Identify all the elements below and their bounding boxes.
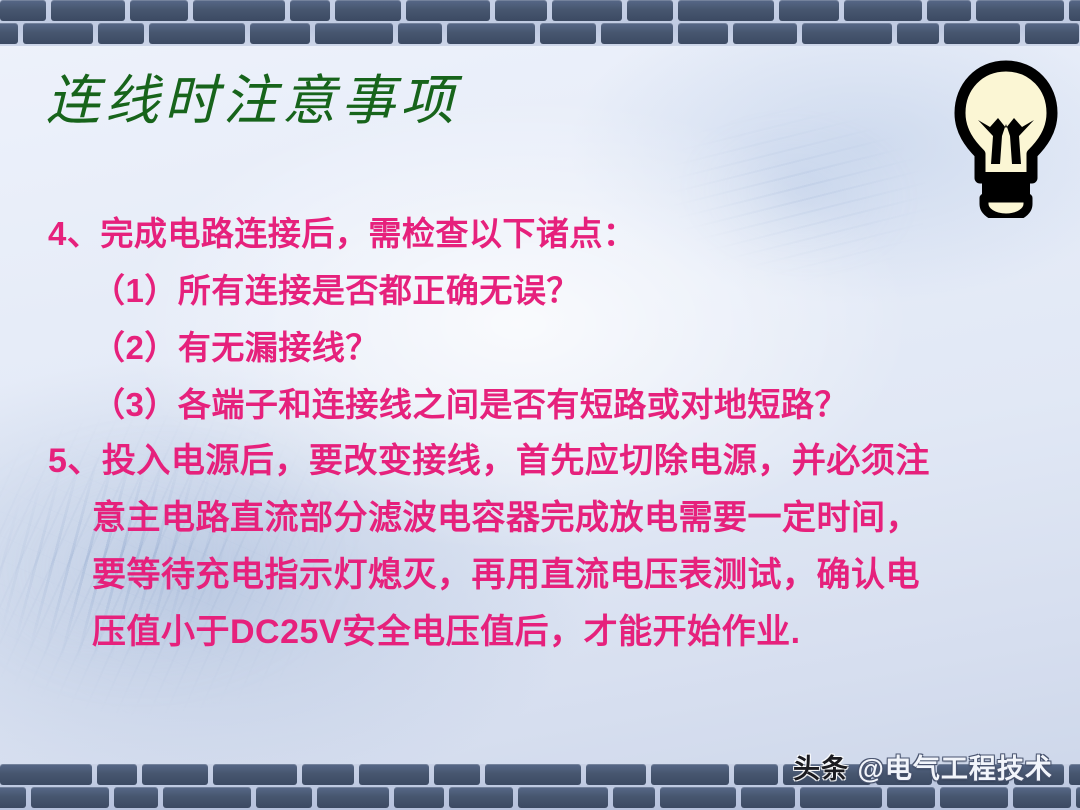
brick — [1069, 764, 1080, 785]
brick — [250, 23, 310, 44]
brick — [0, 23, 18, 44]
brick-row — [0, 23, 1080, 44]
brick — [897, 23, 939, 44]
brick — [940, 787, 1008, 808]
brick — [149, 23, 245, 44]
brick — [302, 764, 354, 785]
brick-row — [0, 0, 1080, 21]
brick — [927, 0, 971, 21]
list-item-5-line-2: 意主电路直流部分滤波电容器完成放电需要一定时间， — [0, 490, 1000, 547]
brick — [485, 764, 581, 785]
brick — [317, 787, 389, 808]
list-item-4-sub-1: （1）所有连接是否都正确无误？ — [0, 262, 1000, 319]
list-item-4-sub-2: （2）有无漏接线？ — [0, 319, 1000, 376]
brick — [1025, 23, 1079, 44]
brick — [193, 0, 285, 21]
brick — [434, 764, 480, 785]
brick — [359, 764, 429, 785]
brick — [734, 764, 778, 785]
slide-body: 4、完成电路连接后，需检查以下诸点： （1）所有连接是否都正确无误？ （2）有无… — [0, 205, 1000, 661]
brick — [733, 23, 797, 44]
brick — [802, 23, 892, 44]
brick — [800, 787, 882, 808]
brick — [0, 764, 92, 785]
brick — [23, 23, 93, 44]
brick — [290, 0, 330, 21]
brick-row — [0, 787, 1080, 808]
list-item-4: 4、完成电路连接后，需检查以下诸点： — [0, 205, 1000, 262]
brick — [495, 0, 547, 21]
brick — [1076, 787, 1080, 808]
brick — [0, 0, 46, 21]
brick — [540, 23, 596, 44]
list-item-4-sub-3: （3）各端子和连接线之间是否有短路或对地短路？ — [0, 376, 1000, 433]
brick — [97, 764, 137, 785]
brick — [98, 23, 144, 44]
brick — [601, 23, 673, 44]
brick — [114, 787, 158, 808]
brick — [1013, 787, 1071, 808]
brick — [586, 764, 646, 785]
brick — [213, 764, 297, 785]
brick — [51, 0, 125, 21]
brick — [130, 0, 188, 21]
brick — [31, 787, 109, 808]
lightbulb-icon — [952, 60, 1060, 218]
brick — [613, 787, 655, 808]
list-item-5-line-4: 压值小于DC25V安全电压值后，才能开始作业. — [0, 604, 1000, 661]
brick — [887, 787, 935, 808]
brick — [627, 0, 673, 21]
brick — [518, 787, 608, 808]
watermark-handle: @电气工程技术 — [858, 754, 1053, 784]
brick — [1069, 0, 1080, 21]
top-brick-border — [0, 0, 1080, 46]
brick — [447, 23, 535, 44]
list-item-5-line-3: 要等待充电指示灯熄灭，再用直流电压表测试，确认电 — [0, 547, 1000, 604]
watermark: 头条 @电气工程技术 — [793, 756, 1053, 783]
brick — [163, 787, 251, 808]
slide-title: 连线时注意事项 — [46, 74, 459, 128]
brick — [256, 787, 312, 808]
brick — [449, 787, 513, 808]
brick — [651, 764, 729, 785]
brick — [660, 787, 736, 808]
brick — [0, 787, 26, 808]
brick — [142, 764, 208, 785]
brick — [398, 23, 442, 44]
brick — [976, 0, 1064, 21]
brick — [779, 0, 839, 21]
brick — [944, 23, 1020, 44]
brick — [678, 0, 774, 21]
brick — [406, 0, 490, 21]
list-item-5-line-1: 5、投入电源后，要改变接线，首先应切除电源，并必须注 — [0, 433, 1000, 490]
brick — [315, 23, 393, 44]
watermark-brand: 头条 — [793, 754, 849, 784]
brick — [552, 0, 622, 21]
brick — [394, 787, 444, 808]
brick — [678, 23, 728, 44]
presentation-slide: 连线时注意事项 4、完成电路连接后，需检查以下诸点： （1）所有连接是否都正确无… — [0, 0, 1080, 810]
brick — [741, 787, 795, 808]
brick — [335, 0, 401, 21]
brick — [844, 0, 922, 21]
